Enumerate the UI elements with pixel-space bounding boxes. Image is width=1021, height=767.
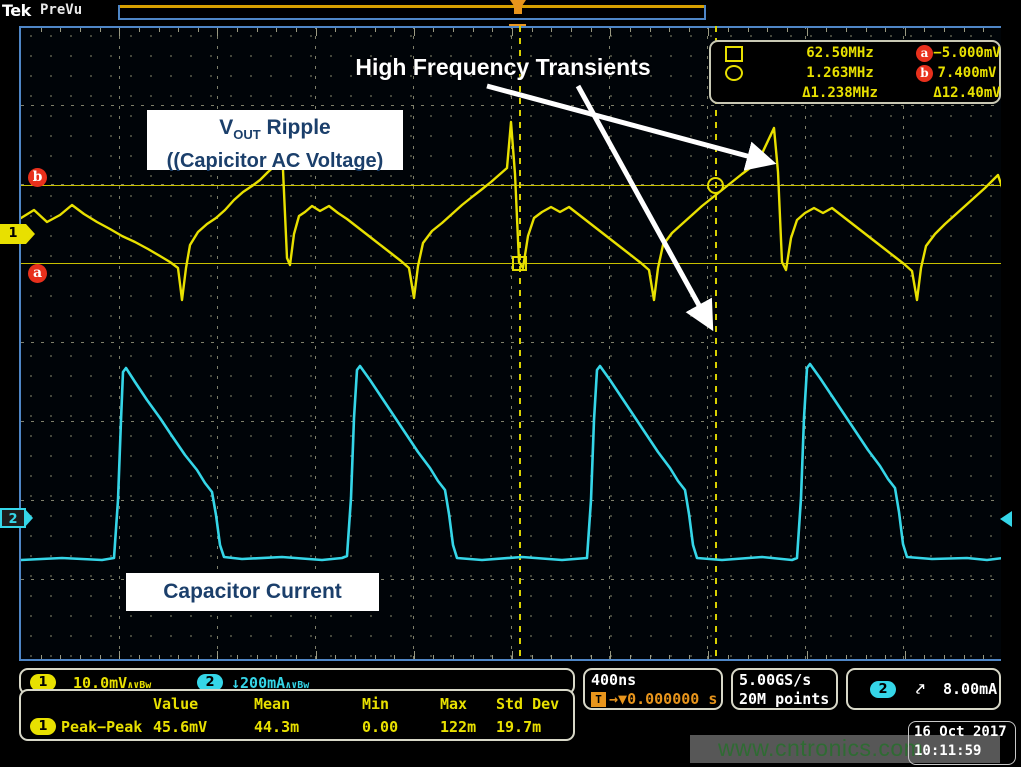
col-value: Value [153, 692, 198, 716]
ch2-ground-pointer[interactable]: 2 [0, 508, 26, 528]
cursor-b-badge[interactable]: b [28, 168, 47, 187]
measurement-max: 122m [440, 715, 476, 739]
annotation-vout-ripple: VOUT Ripple ((Capicitor AC Voltage) [147, 110, 403, 170]
circle-glyph-icon [725, 65, 743, 81]
cursor-row-b: 1.263MHz b 7.400mV [711, 63, 999, 83]
cursor-measurement-readout[interactable]: 62.50MHz a −5.000mV 1.263MHz b 7.400mV Δ… [709, 40, 1001, 104]
col-stddev: Std Dev [496, 692, 559, 716]
acquisition-box[interactable]: 5.00GS/s 20M points [731, 668, 838, 710]
ch1-pointer-label: 1 [8, 226, 17, 241]
trigger-position-value: →▼0.000000 s [609, 690, 717, 708]
cursor-row-delta: Δ1.238MHz Δ12.40mV [711, 83, 999, 103]
timebase-box[interactable]: 400ns T →▼0.000000 s [583, 668, 723, 710]
annotation-vout-line2: ((Capicitor AC Voltage) [147, 148, 403, 174]
oscilloscope-screen: Tek PreVu T [0, 0, 1021, 767]
trace-ch2-capacitor-current [21, 364, 1001, 560]
date-label: 16 Oct 2017 [914, 724, 1007, 740]
tek-logo: Tek [2, 1, 31, 20]
cursor-a-frequency: 62.50MHz [765, 43, 915, 63]
datetime-box: 16 Oct 2017 10:11:59 [908, 721, 1016, 765]
measurement-stddev: 19.7m [496, 715, 541, 739]
trigger-position-chip: T [591, 692, 606, 707]
record-view-left-edge [118, 5, 120, 19]
square-glyph-icon [725, 46, 743, 62]
ch1-pointer-nib-icon [26, 224, 35, 244]
trigger-source-chip: 2 [870, 681, 896, 698]
waveform-record-bar [118, 5, 706, 8]
col-min: Min [362, 692, 389, 716]
ch1-ground-pointer[interactable]: 1 [0, 224, 26, 244]
trigger-box[interactable]: 2 ⤤ 8.00mA [846, 668, 1001, 710]
measurement-table[interactable]: Value Mean Min Max Std Dev 1 Peak−Peak 4… [19, 689, 575, 741]
cursor-delta-value: Δ12.40mV [933, 83, 1001, 103]
cursor-row-a: 62.50MHz a −5.000mV [711, 43, 999, 63]
record-length: 20M points [739, 690, 829, 708]
timebase-scale: 400ns [591, 671, 636, 689]
vout-v: V [219, 116, 233, 139]
sample-rate: 5.00GS/s [739, 671, 811, 689]
col-max: Max [440, 692, 467, 716]
trigger-position-time: 0.000000 s [627, 690, 717, 708]
cursor-b-badge-small: b [916, 65, 933, 82]
ch2-pointer-nib-icon [24, 508, 33, 528]
measurement-name: Peak−Peak [61, 715, 142, 739]
measurement-mean: 44.3m [254, 715, 299, 739]
time-label: 10:11:59 [914, 743, 981, 759]
trigger-level-arrow-icon[interactable] [1000, 511, 1012, 527]
trigger-position-arrow-icon: →▼ [609, 690, 627, 708]
measurement-value: 45.6mV [153, 715, 207, 739]
record-view-right-edge [704, 5, 706, 19]
acquisition-mode-label: PreVu [40, 2, 82, 18]
cursor-delta-frequency: Δ1.238MHz [765, 83, 915, 103]
cursor-a-value: −5.000mV [933, 43, 1001, 63]
measurement-header-row: Value Mean Min Max Std Dev [21, 692, 573, 716]
cursor-b-value: 7.400mV [933, 63, 1001, 83]
trigger-level: 8.00mA [943, 680, 997, 698]
col-mean: Mean [254, 692, 290, 716]
cursor-a-badge-small: a [916, 45, 933, 62]
vout-ripple: Ripple [261, 116, 331, 139]
cursor-a-badge[interactable]: a [28, 264, 47, 283]
annotation-high-frequency-transients: High Frequency Transients [336, 52, 670, 82]
vout-sub: OUT [233, 127, 260, 142]
record-view-bottom-edge [118, 18, 706, 20]
measurement-min: 0.00 [362, 715, 398, 739]
annotation-vout-line1: VOUT Ripple [147, 115, 403, 148]
ch2-pointer-label: 2 [8, 512, 17, 527]
trigger-slope-icon: ⤤ [916, 680, 924, 698]
watermark-text: www.cntronics.com [718, 735, 923, 762]
annotation-capacitor-current: Capacitor Current [126, 573, 379, 611]
table-row[interactable]: 1 Peak−Peak 45.6mV 44.3m 0.00 122m 19.7m [21, 715, 573, 739]
cursor-b-frequency: 1.263MHz [765, 63, 915, 83]
measurement-ch-chip: 1 [30, 718, 56, 735]
